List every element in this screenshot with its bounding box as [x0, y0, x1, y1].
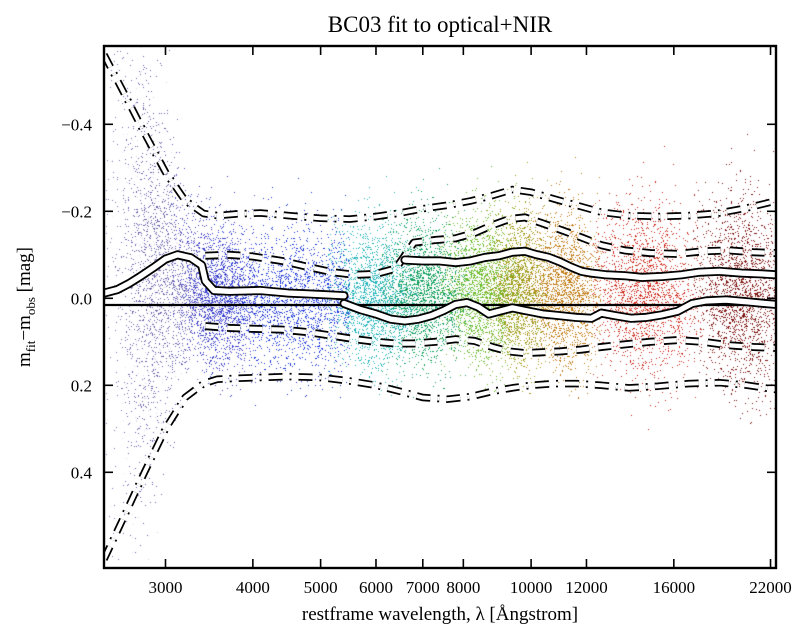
y-tick-label-04: 0.4: [71, 463, 93, 482]
y-label-sub-fit: fit: [23, 340, 38, 352]
x-tick-label-7000: 7000: [406, 578, 440, 597]
page-title: BC03 fit to optical+NIR: [328, 12, 553, 37]
x-tick-label-3000: 3000: [148, 578, 182, 597]
y-label-minus: −: [14, 330, 35, 341]
density-scatter-image: [104, 46, 776, 568]
x-tick-label-6000: 6000: [359, 578, 393, 597]
x-tick-label-12000: 12000: [565, 578, 608, 597]
x-axis-label: restframe wavelength, λ [Ångstrom]: [302, 604, 578, 625]
chart-canvas: BC03 fit to optical+NIR 3000400050006000…: [0, 0, 800, 640]
x-tick-label-10000: 10000: [510, 578, 553, 597]
y-tick-label-0: 0.0: [71, 289, 92, 308]
scatter-density-layer: [104, 46, 776, 568]
y-label-m-obs: m: [14, 315, 35, 330]
x-tick-label-22000: 22000: [749, 578, 792, 597]
x-tick-label-16000: 16000: [653, 578, 696, 597]
x-tick-label-4000: 4000: [236, 578, 270, 597]
y-tick-label--02: −0.2: [61, 202, 92, 221]
y-tick-label--04: −0.4: [61, 115, 92, 134]
y-label-sub-obs: obs: [23, 297, 38, 315]
x-tick-label-5000: 5000: [304, 578, 338, 597]
y-tick-label-02: 0.2: [71, 376, 92, 395]
y-label-m-fit: m: [14, 352, 35, 367]
figure-root: BC03 fit to optical+NIR 3000400050006000…: [0, 0, 800, 640]
y-label-units: [mag]: [14, 247, 35, 297]
x-tick-label-8000: 8000: [446, 578, 480, 597]
